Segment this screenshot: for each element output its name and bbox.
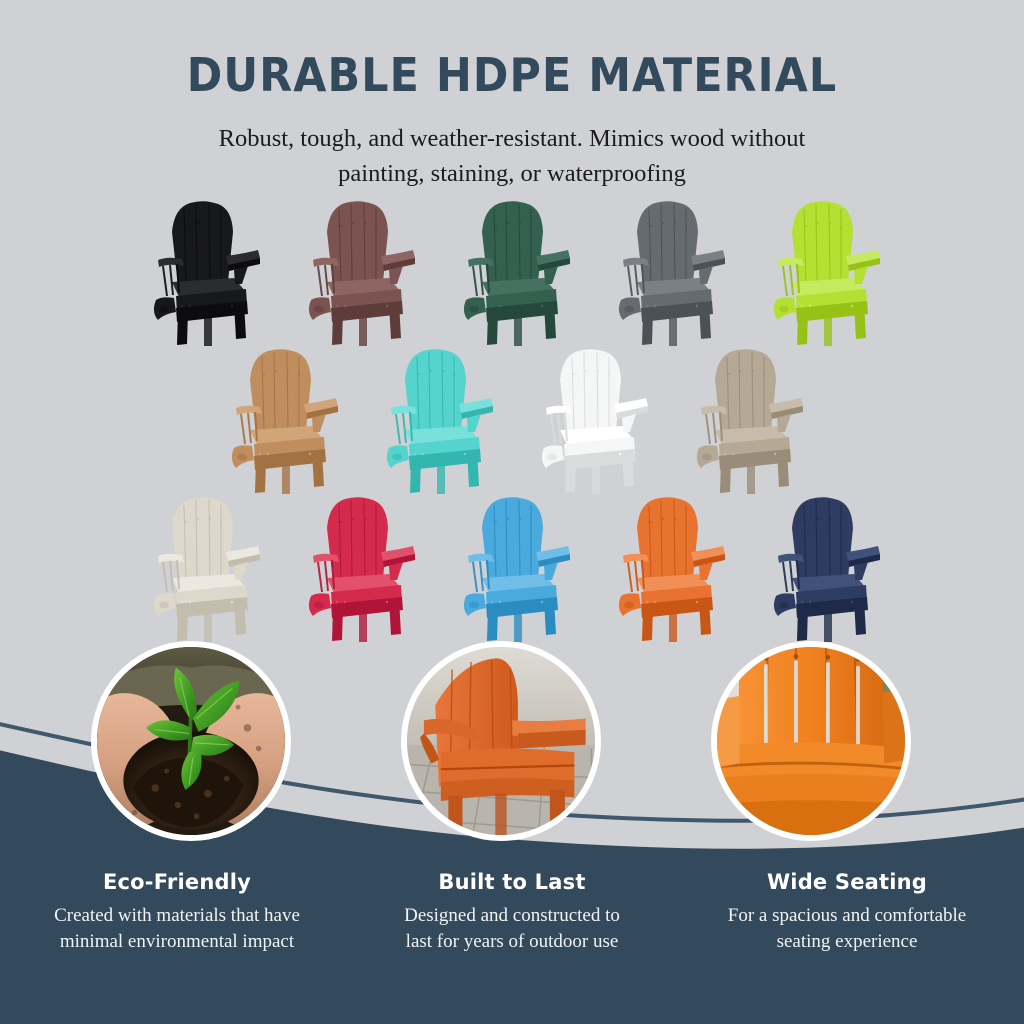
chair-illustration <box>297 196 417 346</box>
feature-desc-line-2: seating experience <box>777 931 918 952</box>
chair-row-1 <box>0 344 1024 494</box>
chair-illustration <box>762 196 882 346</box>
chair-swatch-dark-green[interactable] <box>435 196 590 346</box>
feature-desc-line-2: last for years of outdoor use <box>406 931 619 952</box>
chair-foot-cutout <box>159 602 169 609</box>
feature-title: Wide Seating <box>682 870 1012 894</box>
chair-swatch-ivory[interactable] <box>125 492 280 642</box>
chair-illustration <box>607 196 727 346</box>
chair-illustration <box>762 492 882 642</box>
chair-back <box>637 201 698 286</box>
chair-illustration <box>452 492 572 642</box>
chair-foot-cutout <box>392 454 402 461</box>
chair-back <box>327 497 388 582</box>
chair-foot-cutout <box>624 306 634 313</box>
feature-desc-line-1: Created with materials that have <box>54 905 300 926</box>
chair-illustration <box>297 492 417 642</box>
chair-foot-cutout <box>237 454 247 461</box>
chair-foot-cutout <box>314 602 324 609</box>
feature-desc-line-1: Designed and constructed to <box>404 905 620 926</box>
header-section: DURABLE HDPE MATERIAL Robust, tough, and… <box>0 0 1024 200</box>
chair-back <box>792 201 853 286</box>
chair-back <box>327 201 388 286</box>
chair-back <box>405 349 466 434</box>
orange-chair-on-patio-photo <box>401 641 601 841</box>
chair-swatch-sky-blue[interactable] <box>435 492 590 642</box>
chair-foot-cutout <box>469 602 479 609</box>
chair-illustration <box>452 196 572 346</box>
chair-back <box>172 497 233 582</box>
chair-illustration <box>142 492 262 642</box>
chair-swatch-khaki[interactable] <box>667 344 822 494</box>
chair-illustration <box>220 344 340 494</box>
chair-swatch-orange[interactable] <box>590 492 745 642</box>
chair-row-0 <box>0 196 1024 346</box>
chair-foot-cutout <box>159 306 169 313</box>
chair-illustration <box>142 196 262 346</box>
chair-back <box>250 349 311 434</box>
chair-back <box>482 497 543 582</box>
chair-swatch-turquoise[interactable] <box>357 344 512 494</box>
chair-illustration <box>685 344 805 494</box>
chair-swatch-lime-green[interactable] <box>745 196 900 346</box>
chair-swatch-teak[interactable] <box>202 344 357 494</box>
chair-foot-cutout <box>469 306 479 313</box>
page-subtitle: Robust, tough, and weather-resistant. Mi… <box>0 122 1024 192</box>
chair-foot-cutout <box>779 306 789 313</box>
chair-back <box>637 497 698 582</box>
chair-illustration <box>375 344 495 494</box>
chair-swatch-white[interactable] <box>512 344 667 494</box>
feature-description: Designed and constructed to last for yea… <box>347 903 677 955</box>
chair-foot-cutout <box>314 306 324 313</box>
feature-title: Built to Last <box>347 870 677 894</box>
feature-title: Eco-Friendly <box>12 870 342 894</box>
chair-foot-cutout <box>624 602 634 609</box>
chair-foot-cutout <box>779 602 789 609</box>
page-title: DURABLE HDPE MATERIAL <box>36 52 988 98</box>
chair-back <box>560 349 621 434</box>
chair-back <box>482 201 543 286</box>
feature-description: For a spacious and comfortable seating e… <box>682 903 1012 955</box>
chair-back <box>715 349 776 434</box>
chair-swatch-black[interactable] <box>125 196 280 346</box>
seedling-in-hands-photo <box>91 641 291 841</box>
chair-foot-cutout <box>547 454 557 461</box>
subtitle-line-2: painting, staining, or waterproofing <box>0 157 1024 192</box>
chair-row-2 <box>0 492 1024 642</box>
chair-swatch-red[interactable] <box>280 492 435 642</box>
chair-swatch-navy-blue[interactable] <box>745 492 900 642</box>
chair-illustration <box>530 344 650 494</box>
subtitle-line-1: Robust, tough, and weather-resistant. Mi… <box>0 122 1024 157</box>
feature-description: Created with materials that have minimal… <box>12 903 342 955</box>
chair-foot-cutout <box>702 454 712 461</box>
orange-chair-seat-closeup-photo <box>711 641 911 841</box>
chair-swatch-gray[interactable] <box>590 196 745 346</box>
chair-swatch-dark-brown[interactable] <box>280 196 435 346</box>
feature-desc-line-2: minimal environmental impact <box>60 931 294 952</box>
chair-back <box>792 497 853 582</box>
feature-desc-line-1: For a spacious and comfortable <box>728 905 966 926</box>
chair-illustration <box>607 492 727 642</box>
chair-back <box>172 201 233 286</box>
chair-color-grid <box>0 196 1024 661</box>
